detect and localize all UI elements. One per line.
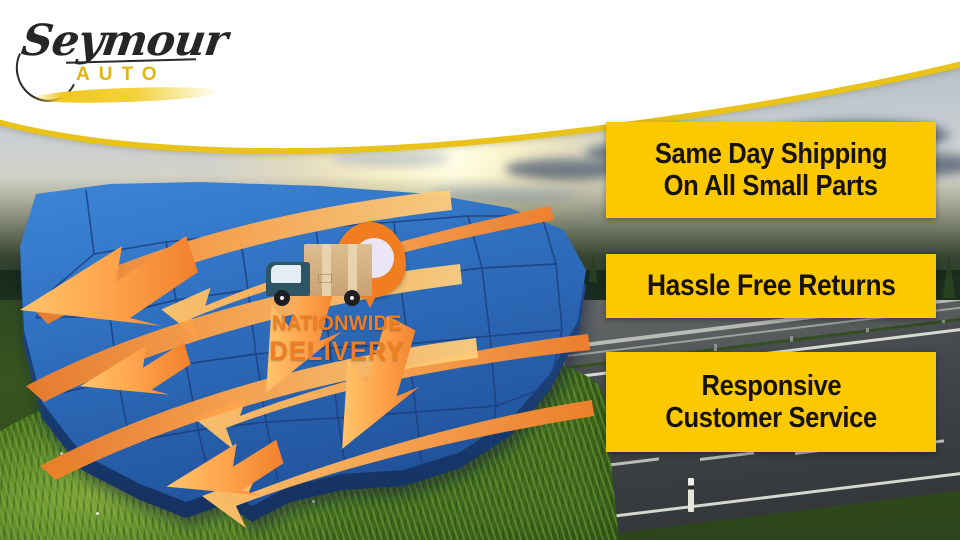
banner-line: Hassle Free Returns [647,269,896,303]
banner-line: On All Small Parts [664,170,878,202]
delivery-label: DELIVERY [257,336,417,367]
marketing-banner-slide: NATIONWIDE DELIVERY Seymour AUTO Same Da… [0,0,960,540]
roadside-marker-post [688,478,694,512]
truck-cab [266,262,310,296]
logo-auto-text: AUTO [76,64,165,86]
truck-wheel [344,290,360,306]
logo-script-name: Seymour [18,16,230,66]
banner-line: Customer Service [665,402,876,434]
cardboard-box-body [304,244,372,296]
truck-wheel [274,290,290,306]
box-label [318,274,332,283]
banner-same-day-shipping[interactable]: Same Day Shipping On All Small Parts [606,122,936,218]
seymour-auto-logo[interactable]: Seymour AUTO [14,10,234,106]
truck-window [271,265,301,283]
banner-line: Responsive [701,370,841,402]
nationwide-label: NATIONWIDE [257,312,417,336]
banner-hassle-free-returns[interactable]: Hassle Free Returns [606,254,936,318]
banner-line: Same Day Shipping [655,138,887,170]
banner-responsive-customer-service[interactable]: Responsive Customer Service [606,352,936,452]
delivery-truck-icon [266,244,374,306]
nationwide-delivery-badge: NATIONWIDE DELIVERY [252,218,422,368]
